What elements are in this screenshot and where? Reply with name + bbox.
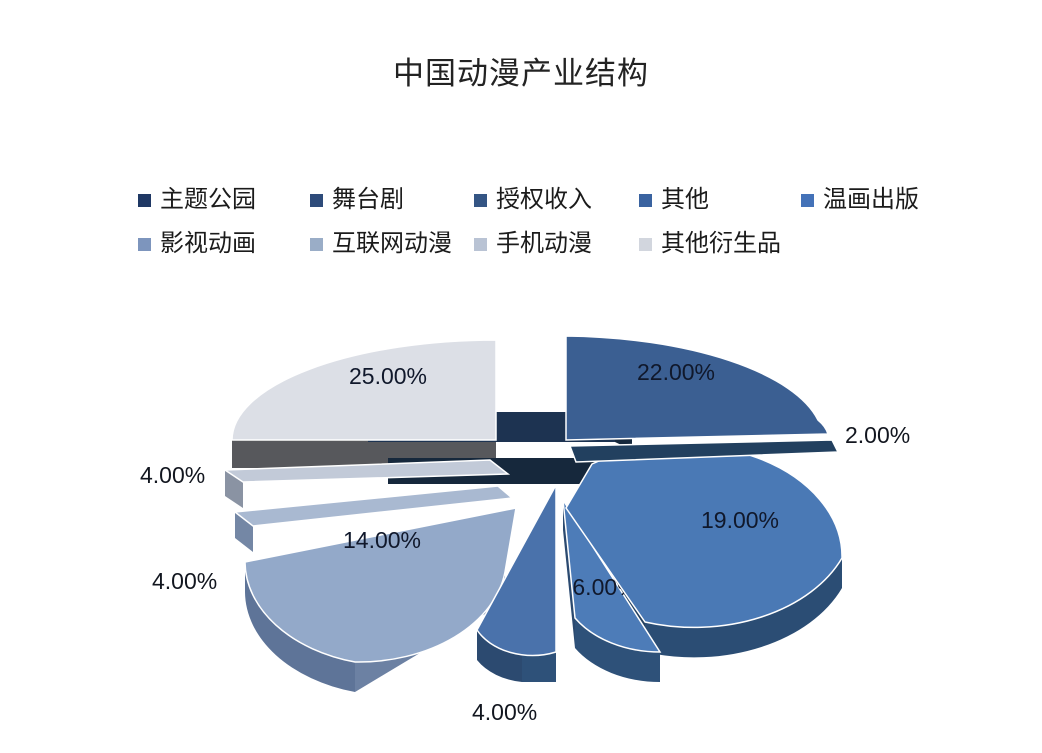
legend-row-1: 主题公园 舞台剧 授权收入 其他 温画出版 [138,178,938,222]
legend-item-comic-publishing[interactable]: 温画出版 [801,188,919,212]
legend-label: 主题公园 [160,188,256,212]
callout-stage-play-2pct: 2.00% [845,422,910,449]
legend-label: 温画出版 [823,188,919,212]
legend-label: 互联网动漫 [332,232,452,256]
legend-label: 其他衍生品 [661,232,781,256]
slice-value-label: 19.00% [701,507,779,533]
slice-value-label: 14.00% [343,527,421,553]
legend-item-licensing-revenue[interactable]: 授权收入 [474,188,639,212]
legend-swatch-icon [474,238,487,251]
legend-swatch-icon [138,194,151,207]
callout-mobile-animation-4pct: 4.00% [140,462,205,489]
slice-other-derivatives[interactable]: 25.00% [232,340,496,440]
chart-legend: 主题公园 舞台剧 授权收入 其他 温画出版 影视动画 [138,178,938,266]
slice-value-label: 22.00% [637,359,715,385]
legend-item-stage-play[interactable]: 舞台剧 [310,188,474,212]
slice-theme-park[interactable]: 22.00% [566,336,828,440]
legend-item-mobile-animation[interactable]: 手机动漫 [474,232,639,256]
legend-item-other[interactable]: 其他 [639,188,801,212]
legend-swatch-icon [639,194,652,207]
legend-swatch-icon [310,194,323,207]
legend-swatch-icon [801,194,814,207]
legend-swatch-icon [639,238,652,251]
legend-row-2: 影视动画 互联网动漫 手机动漫 其他衍生品 [138,222,938,266]
legend-item-other-derivatives[interactable]: 其他衍生品 [639,232,781,256]
page-title: 中国动漫产业结构 [0,48,1042,93]
pie-svg: 25.00% 14.00% 6.00% [0,300,1042,748]
legend-label: 影视动画 [160,232,256,256]
callout-comic-publishing-4pct: 4.00% [472,699,537,726]
legend-item-internet-animation[interactable]: 互联网动漫 [310,232,474,256]
legend-label: 舞台剧 [332,188,404,212]
legend-label: 手机动漫 [496,232,592,256]
slice-value-label: 25.00% [349,363,427,389]
legend-swatch-icon [138,238,151,251]
legend-item-film-animation[interactable]: 影视动画 [138,232,310,256]
legend-swatch-icon [474,194,487,207]
pie-graphic: 25.00% 14.00% 6.00% [0,300,1042,748]
legend-item-theme-park[interactable]: 主题公园 [138,188,310,212]
legend-label: 授权收入 [496,188,592,212]
legend-swatch-icon [310,238,323,251]
pie-chart-figure: 中国动漫产业结构 主题公园 舞台剧 授权收入 其他 温画出版 [0,0,1042,748]
callout-internet-animation-4pct: 4.00% [152,568,217,595]
legend-label: 其他 [661,188,709,212]
